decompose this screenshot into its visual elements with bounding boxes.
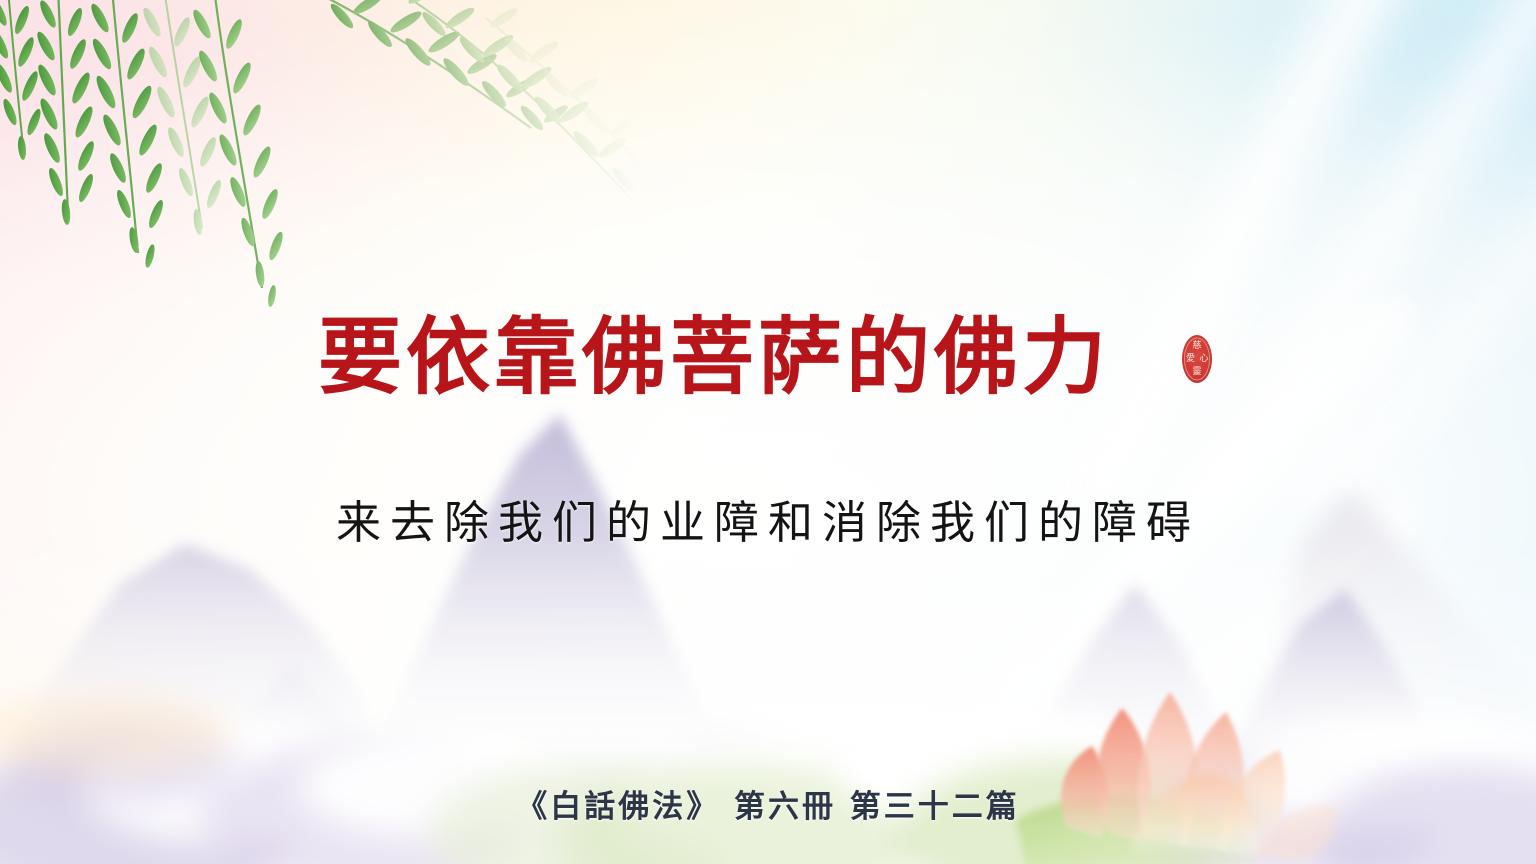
seal-stamp-icon: 慈 愛 心 靈 <box>1176 330 1218 388</box>
svg-text:慈: 慈 <box>1192 339 1201 351</box>
svg-text:愛: 愛 <box>1186 352 1195 364</box>
svg-text:心: 心 <box>1199 353 1208 364</box>
title-row: 要依靠佛菩萨的佛力 慈 愛 心 靈 <box>0 312 1536 401</box>
page-title: 要依靠佛菩萨的佛力 <box>318 312 1110 401</box>
presentation-slide: 要依靠佛菩萨的佛力 慈 愛 心 靈 <box>0 0 1536 864</box>
svg-text:靈: 靈 <box>1192 366 1201 377</box>
source-reference: 《白話佛法》 第六冊 第三十二篇 <box>0 781 1536 826</box>
page-subtitle: 来去除我们的业障和消除我们的障碍 <box>0 486 1536 551</box>
